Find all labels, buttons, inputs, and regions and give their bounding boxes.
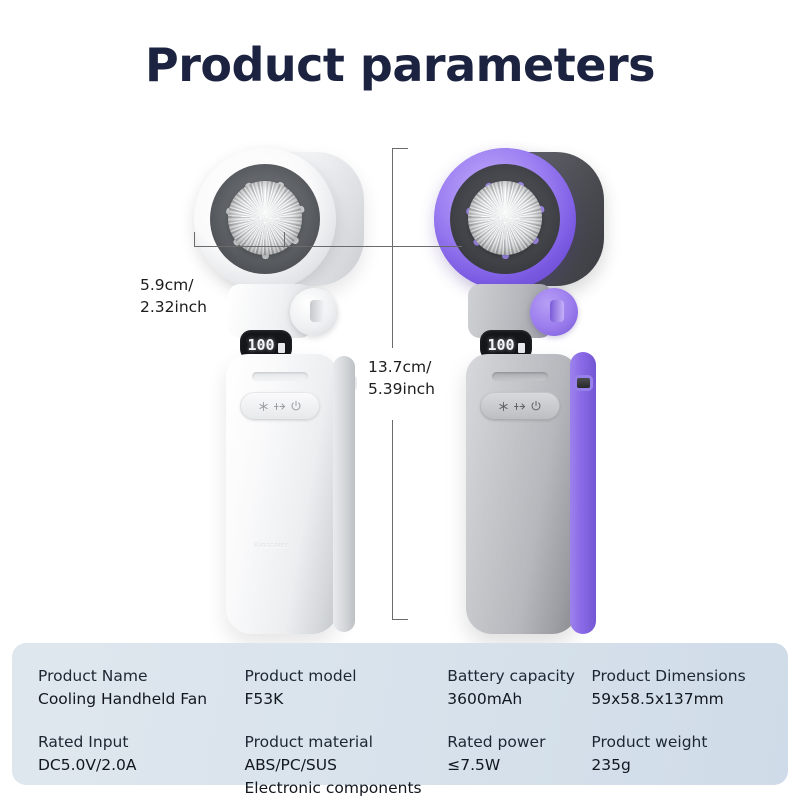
white-fan-hinge-nub <box>310 300 324 322</box>
product-purple-fan: 100 <box>418 138 638 638</box>
spec-value: F53K <box>245 688 438 711</box>
white-fan-brand-text: Kinscoter <box>254 542 289 549</box>
purple-fan-side-strip <box>570 352 596 634</box>
spec-value: ≤7.5W <box>447 754 581 777</box>
purple-fan-metal-hub <box>468 181 542 255</box>
spec-value: ABS/PC/SUS <box>245 754 438 777</box>
power-icon <box>290 400 302 412</box>
spec-table-row: Product Name Cooling Handheld Fan Produc… <box>38 665 762 712</box>
spec-key: Rated power <box>447 731 581 754</box>
white-fan-handle: Kinscoter <box>226 354 338 634</box>
spec-cell-product-weight: Product weight 235g <box>591 731 762 800</box>
spec-value-line2: Electronic components <box>245 777 438 800</box>
spec-value: 3600mAh <box>447 688 581 711</box>
battery-icon <box>278 343 285 353</box>
spec-table-row: Rated Input DC5.0V/2.0A Product material… <box>38 731 762 800</box>
purple-fan-grille <box>434 148 576 290</box>
snowflake-icon <box>498 401 509 412</box>
spec-key: Product Name <box>38 665 235 688</box>
white-fan-vent-slot <box>252 372 308 381</box>
spec-key: Product model <box>245 665 438 688</box>
fan-icon <box>513 401 526 412</box>
purple-fan-hinge-nub <box>550 300 564 322</box>
power-icon <box>530 400 542 412</box>
battery-icon <box>518 343 525 353</box>
spec-cell-battery-capacity: Battery capacity 3600mAh <box>447 665 591 712</box>
snowflake-icon <box>258 401 269 412</box>
display-value: 100 <box>487 338 514 353</box>
fan-icon <box>273 401 286 412</box>
purple-fan-mode-button[interactable] <box>480 392 560 420</box>
width-dimension-label: 5.9cm/ 2.32inch <box>140 274 207 318</box>
product-image-stage: 100 <box>0 120 800 630</box>
spec-key: Product Dimensions <box>591 665 752 688</box>
white-fan-mode-button[interactable] <box>240 392 320 420</box>
display-value: 100 <box>247 338 274 353</box>
spec-cell-product-material: Product material ABS/PC/SUS Electronic c… <box>245 731 448 800</box>
spec-value: Cooling Handheld Fan <box>38 688 235 711</box>
spec-cell-rated-power: Rated power ≤7.5W <box>447 731 591 800</box>
purple-fan-usb-port <box>577 378 590 388</box>
spec-table: Product Name Cooling Handheld Fan Produc… <box>12 643 788 785</box>
spec-key: Product weight <box>591 731 752 754</box>
purple-fan-vent-slot <box>492 372 548 381</box>
spec-cell-product-dimensions: Product Dimensions 59x58.5x137mm <box>591 665 762 712</box>
page-title: Product parameters <box>0 38 800 92</box>
spec-value: DC5.0V/2.0A <box>38 754 235 777</box>
spec-value: 235g <box>591 754 752 777</box>
white-fan-side-strip <box>333 356 355 632</box>
spec-value: 59x58.5x137mm <box>591 688 752 711</box>
height-dimension-label: 13.7cm/ 5.39inch <box>368 356 435 400</box>
product-white-fan: 100 <box>178 138 398 638</box>
spec-key: Product material <box>245 731 438 754</box>
spec-key: Rated Input <box>38 731 235 754</box>
spec-key: Battery capacity <box>447 665 581 688</box>
spec-cell-rated-input: Rated Input DC5.0V/2.0A <box>38 731 245 800</box>
white-fan-grille <box>194 148 336 290</box>
spec-cell-product-name: Product Name Cooling Handheld Fan <box>38 665 245 712</box>
white-fan-metal-hub <box>228 181 302 255</box>
purple-fan-handle <box>466 354 578 634</box>
spec-cell-product-model: Product model F53K <box>245 665 448 712</box>
